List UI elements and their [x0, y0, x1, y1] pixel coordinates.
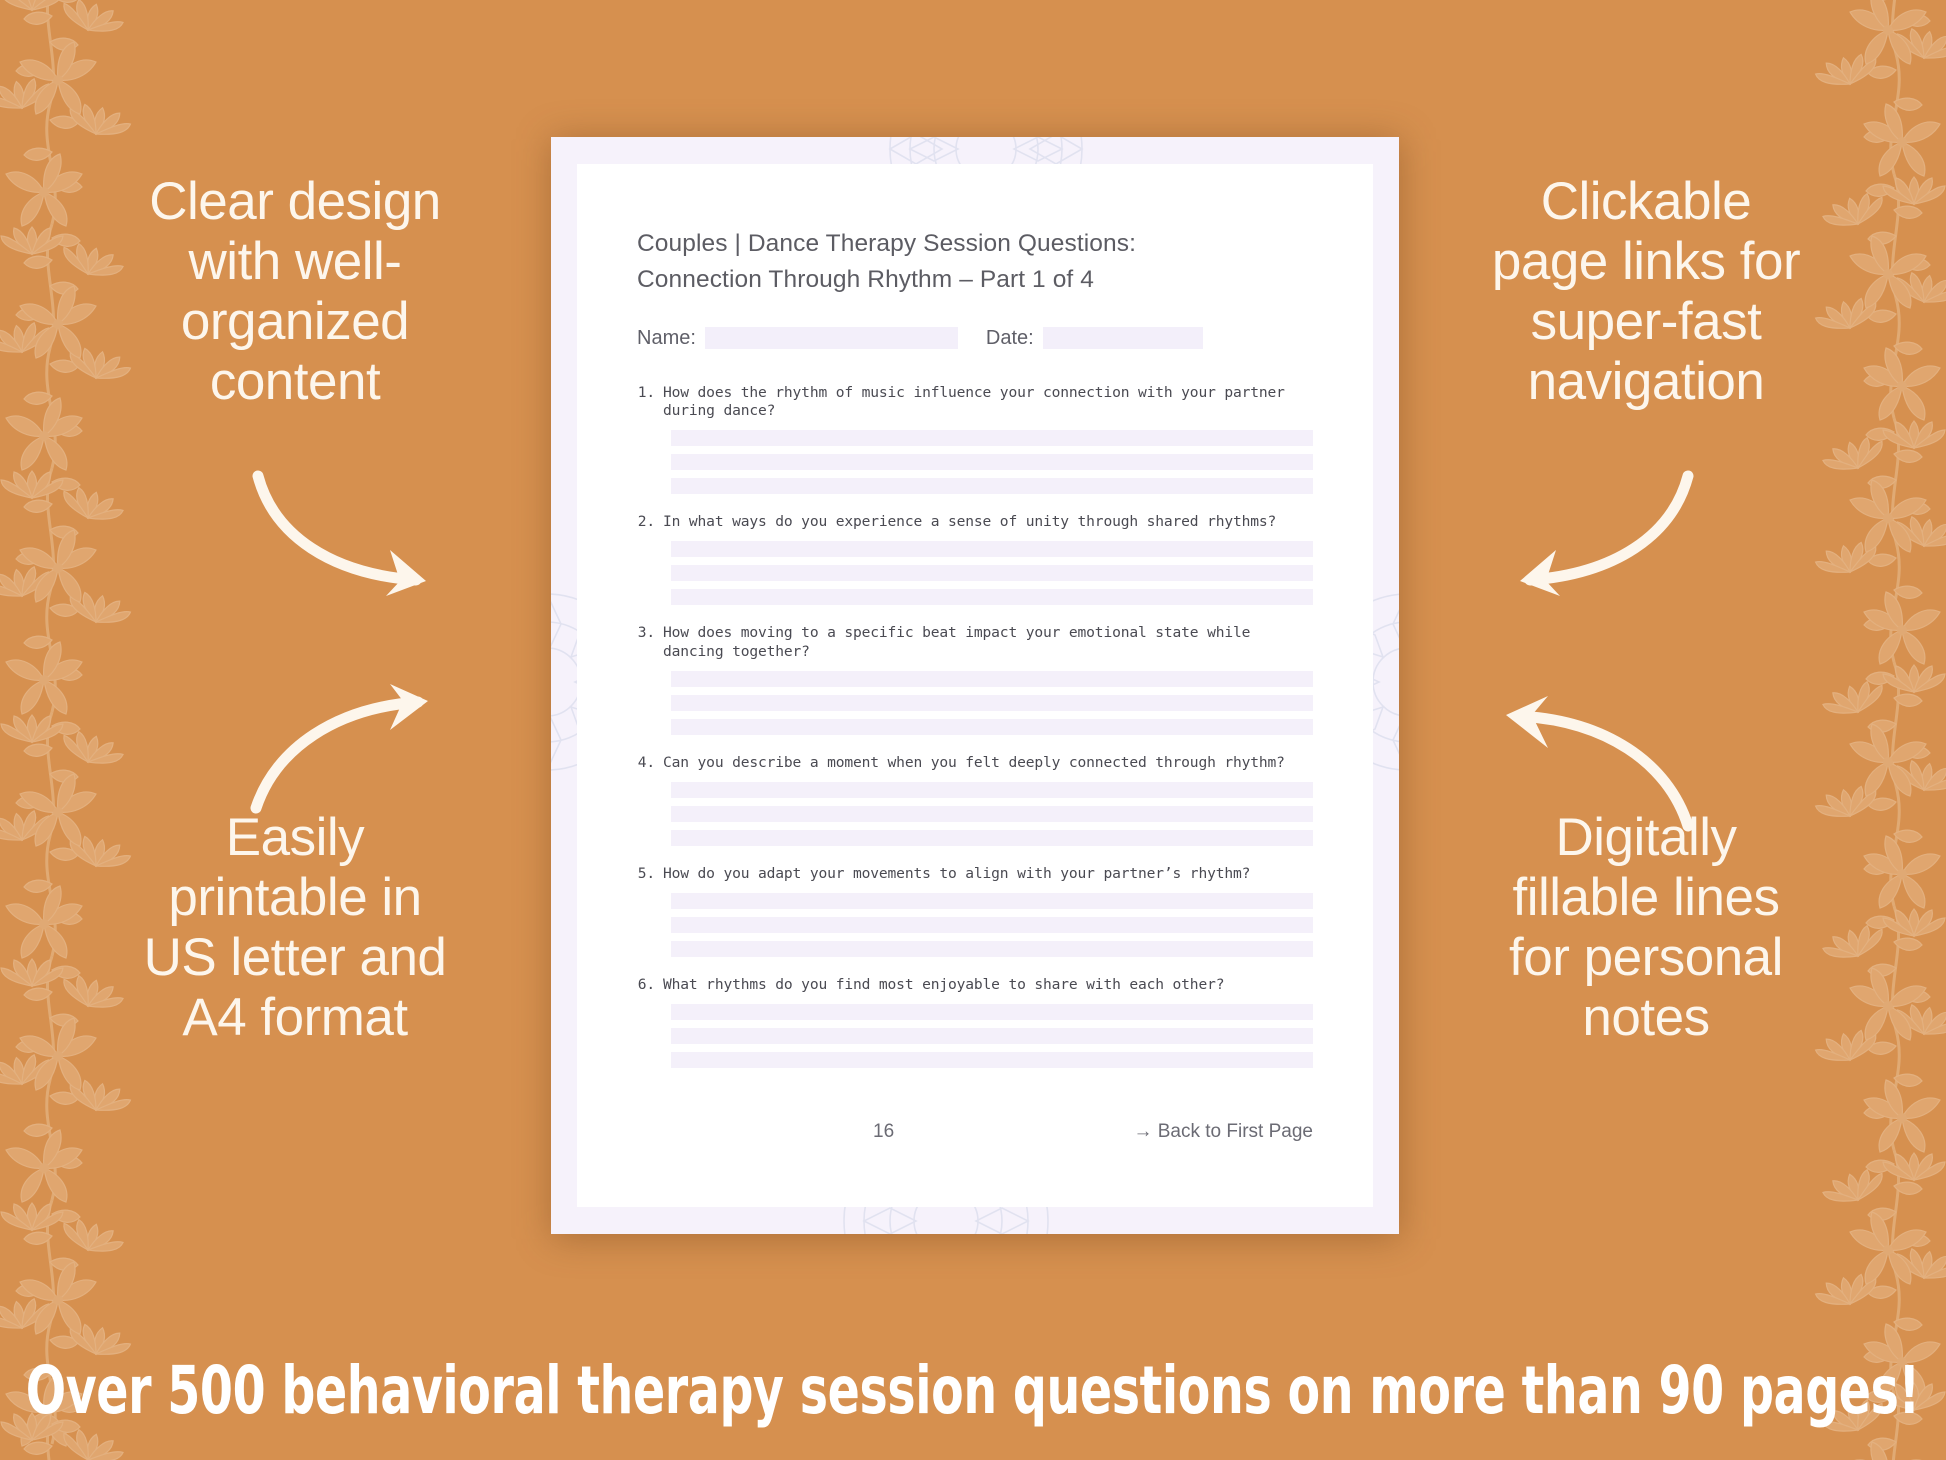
back-to-first-page-link[interactable]: → Back to First Page — [1133, 1121, 1313, 1143]
answer-line[interactable] — [671, 917, 1313, 933]
name-label: Name: — [637, 327, 696, 350]
answer-line[interactable] — [671, 1028, 1313, 1044]
document-footer: 16 → Back to First Page — [637, 1121, 1313, 1143]
question-number: 3. — [637, 624, 663, 662]
promo-fillable-lines: Digitally fillable lines for personal no… — [1446, 808, 1846, 1048]
question-text: Can you describe a moment when you felt … — [663, 754, 1285, 773]
question-item: 4.Can you describe a moment when you fel… — [637, 754, 1313, 846]
question-item: 1.How does the rhythm of music influence… — [637, 384, 1313, 495]
answer-lines — [671, 893, 1313, 957]
question-text: What rhythms do you find most enjoyable … — [663, 976, 1224, 995]
answer-line[interactable] — [671, 830, 1313, 846]
answer-line[interactable] — [671, 478, 1313, 494]
date-input[interactable] — [1043, 327, 1203, 349]
question-number: 4. — [637, 754, 663, 773]
question-number: 6. — [637, 976, 663, 995]
question-item: 2.In what ways do you experience a sense… — [637, 513, 1313, 605]
banner-text: Over 500 behavioral therapy session ques… — [26, 1352, 1920, 1429]
question-list: 1.How does the rhythm of music influence… — [637, 384, 1313, 1069]
promo-easily-printable: Easily printable in US letter and A4 for… — [100, 808, 490, 1048]
answer-line[interactable] — [671, 1052, 1313, 1068]
answer-line[interactable] — [671, 541, 1313, 557]
answer-line[interactable] — [671, 454, 1313, 470]
question-item: 3.How does moving to a specific beat imp… — [637, 624, 1313, 735]
answer-line[interactable] — [671, 565, 1313, 581]
answer-lines — [671, 671, 1313, 735]
name-input[interactable] — [705, 327, 958, 349]
question-text: In what ways do you experience a sense o… — [663, 513, 1276, 532]
promo-clear-design: Clear design with well- organized conten… — [100, 172, 490, 412]
answer-lines — [671, 541, 1313, 605]
answer-line[interactable] — [671, 671, 1313, 687]
document-title-line-2: Connection Through Rhythm – Part 1 of 4 — [637, 262, 1313, 298]
question-text: How do you adapt your movements to align… — [663, 865, 1250, 884]
answer-line[interactable] — [671, 1004, 1313, 1020]
answer-line[interactable] — [671, 806, 1313, 822]
question-text-row: 3.How does moving to a specific beat imp… — [637, 624, 1313, 662]
answer-line[interactable] — [671, 430, 1313, 446]
question-text-row: 2.In what ways do you experience a sense… — [637, 513, 1313, 532]
question-text-row: 5.How do you adapt your movements to ali… — [637, 865, 1313, 884]
question-text-row: 1.How does the rhythm of music influence… — [637, 384, 1313, 422]
answer-lines — [671, 1004, 1313, 1068]
answer-line[interactable] — [671, 695, 1313, 711]
document-page[interactable]: Couples | Dance Therapy Session Question… — [551, 137, 1399, 1234]
question-text: How does the rhythm of music influence y… — [663, 384, 1313, 422]
document-title-line-1: Couples | Dance Therapy Session Question… — [637, 226, 1313, 262]
question-number: 2. — [637, 513, 663, 532]
promo-clickable-links: Clickable page links for super-fast navi… — [1446, 172, 1846, 412]
question-number: 5. — [637, 865, 663, 884]
bottom-banner: Over 500 behavioral therapy session ques… — [0, 1320, 1946, 1460]
answer-line[interactable] — [671, 782, 1313, 798]
answer-line[interactable] — [671, 589, 1313, 605]
answer-lines — [671, 782, 1313, 846]
question-number: 1. — [637, 384, 663, 422]
answer-line[interactable] — [671, 719, 1313, 735]
question-item: 6.What rhythms do you find most enjoyabl… — [637, 976, 1313, 1068]
document-body: Couples | Dance Therapy Session Question… — [637, 164, 1313, 1207]
question-text: How does moving to a specific beat impac… — [663, 624, 1313, 662]
question-text-row: 6.What rhythms do you find most enjoyabl… — [637, 976, 1313, 995]
page-content-area: Couples | Dance Therapy Session Question… — [577, 164, 1373, 1207]
document-title: Couples | Dance Therapy Session Question… — [637, 226, 1313, 299]
date-label: Date: — [986, 327, 1034, 350]
page-number: 16 — [873, 1121, 894, 1143]
curved-arrow-right-down-icon — [240, 462, 460, 602]
question-text-row: 4.Can you describe a moment when you fel… — [637, 754, 1313, 773]
answer-line[interactable] — [671, 941, 1313, 957]
curved-arrow-right-up-icon — [240, 682, 460, 822]
question-item: 5.How do you adapt your movements to ali… — [637, 865, 1313, 957]
answer-line[interactable] — [671, 893, 1313, 909]
curved-arrow-left-down-icon — [1486, 462, 1706, 602]
name-date-row: Name: Date: — [637, 327, 1313, 350]
answer-lines — [671, 430, 1313, 494]
